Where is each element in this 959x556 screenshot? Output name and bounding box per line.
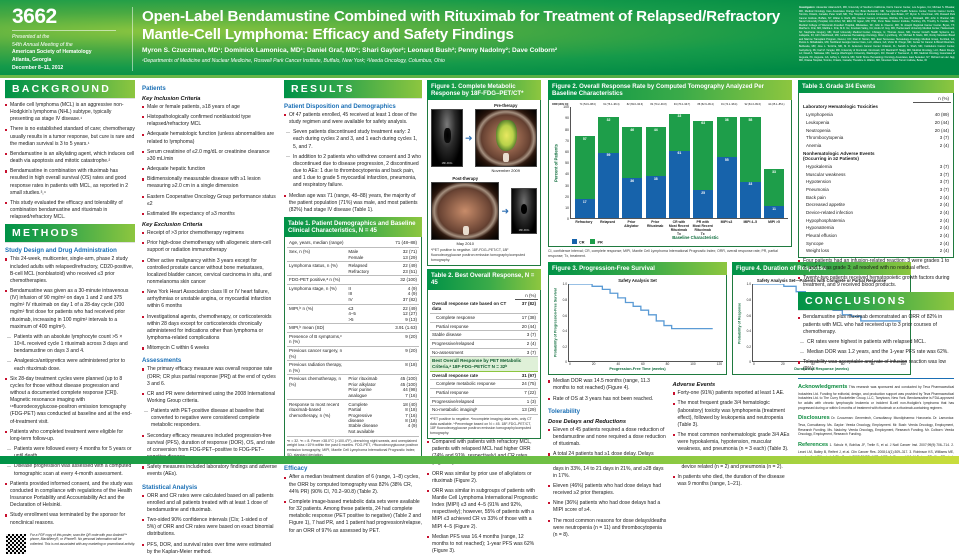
figure2-bar: 3259	[598, 117, 618, 218]
figure2-ci-value: 92 (64.3–99.6)	[741, 103, 765, 106]
figure2-bar-segment-pr: 44	[646, 127, 666, 176]
table1-row-category	[346, 239, 386, 247]
section-header-methods: METHODS	[5, 224, 135, 242]
table-row: Hypokalemia3 (7)	[801, 163, 951, 171]
table-row: Muscular weakness3 (7)	[801, 170, 951, 178]
column-patients: Patients Key Inclusion Criteria Male or …	[139, 80, 280, 458]
table3-group-header: Nonhematologic Adverse Events (Occurring…	[801, 149, 951, 162]
table3-row-value: 3 (7)	[913, 163, 951, 171]
pre-therapy-row: 18F-FDG ➜ Pre-therapy November 2009	[431, 103, 537, 173]
figure2-y-tick: 100	[563, 105, 569, 109]
table1-row-label: Response to most recent rituximab-based …	[287, 400, 346, 436]
table3-row-value: 2 (4)	[913, 201, 951, 209]
pet-whole-body-image-post: 18F-FDG	[511, 188, 537, 234]
table1-row-value: 22 (49)23 (51)	[386, 262, 419, 276]
conclusion-item: Median DOR was 1.2 years, and the 1-year…	[798, 349, 954, 356]
figure2-plot: 571732594636443833616325365558333311	[570, 107, 788, 219]
table1-row-label: Lymphoma status, n (%)	[287, 262, 346, 276]
exclusion-list: Receipt of >3 prior chemotherapy regimen…	[142, 230, 277, 352]
arrow-right-icon-post: ➜	[501, 207, 509, 216]
table2-sub-row-value: 13 (29)	[515, 406, 538, 415]
figure2-y-tick: 90	[565, 116, 569, 120]
figure2-y-tick: 30	[565, 184, 569, 188]
after-figs-list: Median DOR was 14.5 months (range, 11.3 …	[548, 378, 668, 402]
pre-therapy-caption: November 2009	[475, 168, 537, 173]
table1-row-category: Prior rituximabPrior alkylatorPrior puri…	[346, 375, 386, 400]
methods-item: Bendamustine was given as a 30-minute in…	[5, 288, 135, 331]
presented-line-2: American Society of Hematology	[12, 49, 130, 57]
table1-row-label: Sex, n (%)	[287, 247, 346, 261]
poster-footer-bar	[0, 456, 959, 464]
header-title-block: Open-Label Bendamustine Combined with Ri…	[142, 8, 792, 64]
km-x-tick: 120	[717, 362, 722, 366]
table-row: Complete metabolic response24 (75)	[430, 380, 538, 389]
table3-row-label: Hypotension	[801, 178, 913, 186]
table-row: Lymphoma stage, n (%)IIIIIIV4 (9)4 (9)37…	[287, 284, 419, 304]
table-row: Weight loss2 (4)	[801, 247, 951, 255]
figure3-x-ticks: 020406080100120	[568, 362, 723, 366]
table1-row-category: IIIIIIV	[346, 284, 386, 304]
exclusion-item: Other active malignancy within 3 years e…	[142, 258, 277, 287]
figure2-bar: 3311	[764, 169, 784, 218]
table3-row-value: 2 (4)	[913, 224, 951, 232]
figure1-box: 18F-FDG ➜ Pre-therapy November 2009	[427, 100, 541, 266]
dose-list: Eleven of 45 patients required a dose re…	[548, 427, 668, 539]
table-row: Response to most recent rituximab-based …	[287, 400, 419, 436]
figure2-ci-value: 82 (69.6–90.6)	[623, 103, 647, 106]
figure2-bar-segment-cr: 36	[622, 178, 642, 218]
figure2-legend-item: CR	[572, 239, 584, 245]
km-x-tick: 0	[569, 362, 571, 366]
km-y-tick: 0.6	[563, 314, 567, 318]
table3-row-label: Pleural effusion	[801, 232, 913, 240]
km-x-tick: 40	[616, 362, 620, 366]
figure2-bar-segment-cr: 25	[693, 190, 713, 218]
table2-sub-row-value: 1 (3)	[515, 397, 538, 406]
exclusion-heading: Key Exclusion Criteria	[142, 222, 277, 228]
table1-row-value: 18 (40)8 (18)7 (16)8 (18)4 (9)	[386, 400, 419, 436]
inclusion-item: Estimated life expectancy of ≥3 months	[142, 211, 277, 218]
table2-row-value: 3 (7)	[515, 348, 538, 357]
figure2-y-tick: 70	[565, 139, 569, 143]
efficacy-item: After a median treatment duration of 6 (…	[284, 474, 422, 495]
presented-line-1: 54th Annual Meeting of the	[12, 42, 130, 50]
figure3-subtitle: Safety Analysis Set	[552, 278, 723, 283]
assessment-item: The primary efficacy measure was overall…	[142, 366, 277, 387]
section-header-results: RESULTS	[284, 80, 422, 98]
table1-row-category	[346, 332, 386, 346]
assessments-heading: Assessments	[142, 357, 277, 364]
figure2-bar: 4438	[646, 127, 666, 218]
table3-col-header: n (%)	[913, 95, 951, 103]
post-therapy-row: Post-therapy May 2010 ➜ 18F-FDG	[431, 176, 537, 246]
table3-row-value: 2 (4)	[913, 247, 951, 255]
arrow-right-icon-pre: ➜	[465, 134, 473, 143]
disposition-item: Seven patients discontinued study treatm…	[284, 129, 422, 150]
section-header-background: BACKGROUND	[5, 80, 135, 98]
table1-row-value: 3.91 (1.63)	[386, 324, 419, 333]
table-row: Stable disease3 (7)	[430, 331, 538, 340]
efficacy-heading: Efficacy	[284, 465, 422, 472]
figure3-y-axis-label: Probability of Progression-Free Survival	[552, 284, 559, 362]
table3-row-label: Hypophosphatemia	[801, 217, 913, 225]
table1-row-label: FDG-PET positive,ᵃ n (%)	[287, 276, 346, 285]
km-y-tick: 0.8	[563, 298, 567, 302]
qr-caption: For a PDF copy of this poster, scan the …	[30, 533, 135, 546]
tolerability-heading: Tolerability	[548, 408, 668, 415]
table2-sub-row-label: No-metabolic imagingᵇ	[430, 406, 515, 415]
km-y-tick: 0.6	[747, 314, 751, 318]
qr-code-icon	[5, 533, 27, 555]
table-row: MIPI,ᵇ mean (SD)3.91 (1.63)	[287, 324, 419, 333]
table1-row-category	[346, 347, 386, 361]
table-row: Leukopenia20 (44)	[801, 119, 951, 127]
inclusion-list: Male or female patients, ≥18 years of ag…	[142, 104, 277, 218]
header-left-block: 3662 Presented at the 54th Annual Meetin…	[12, 6, 130, 73]
background-item: Bendamustine is an alkylating agent, whi…	[5, 151, 135, 165]
table2-row-label: Overall response rate based on CT data	[430, 300, 515, 314]
table1-row-label: Previous chemotherapy, n (%)	[287, 375, 346, 400]
km-x-tick: 20	[592, 362, 596, 366]
table1-wrapper: Age, years, median (range)71 (48–88)Sex,…	[284, 237, 422, 460]
table2-sub-row-value: 31 (97)	[515, 371, 538, 380]
methods-list: This 24-week, multicenter, single-arm, p…	[5, 256, 135, 526]
after-fig-item: Rate of OS at 3 years has not been reach…	[548, 396, 668, 403]
inclusion-item: Adequate hepatic function	[142, 166, 277, 173]
table1-row-label: Presence of B symptoms,ᶜ n (%)	[287, 332, 346, 346]
table-row: Back pain2 (4)	[801, 193, 951, 201]
qr-block: For a PDF copy of this poster, scan the …	[5, 533, 135, 555]
table1-footnotes: ᵃn = 32. ᵇn = 8. Fever >38.0°C (>100.4°F…	[287, 439, 419, 458]
table-row: Decreased appetite2 (4)	[801, 201, 951, 209]
table2-note-item: Median PFS was 16.4 months (range, 12 mo…	[427, 534, 541, 555]
disclosures-block: Disclosures Dr. Czuczman: Genentech, Con…	[798, 415, 954, 437]
table1-row-category: ≤34–5>5	[346, 304, 386, 324]
km-y-tick: 1.0	[563, 282, 567, 286]
poster-title: Open-Label Bendamustine Combined with Ri…	[142, 8, 792, 43]
figure2-bar: 3655	[717, 117, 737, 218]
figure2-ci-value: 88 (52.9–99.4)	[694, 103, 718, 106]
background-item: Mantle cell lymphoma (MCL) is an aggress…	[5, 102, 135, 123]
spine-shape-post	[463, 226, 469, 235]
table1-row-label: Lymphoma stage, n (%)	[287, 284, 346, 304]
table-row: Overall response rate31 (97)	[430, 371, 538, 380]
table1-row-value: 9 (20)	[386, 332, 419, 346]
figure2-bar: 3361	[669, 114, 689, 218]
table1-row-label: MIPI,ᵇ mean (SD)	[287, 324, 346, 333]
table2-wrapper: n (%) Overall response rate based on CT …	[427, 290, 541, 439]
disclosures-heading: Disclosures	[798, 415, 830, 421]
table3-row-label: Muscular weakness	[801, 170, 913, 178]
exclusion-item: Prior high-dose chemotherapy with alloge…	[142, 240, 277, 254]
table1-row-value: 8 (18)	[386, 361, 419, 375]
presented-line-4: December 8–11, 2012	[12, 65, 130, 73]
km-x-tick: 80	[666, 362, 670, 366]
methods-item: Six 28-day treatment cycles were planned…	[5, 376, 135, 426]
figure2-title: Figure 2. Overall Response Rate by Compu…	[548, 80, 792, 100]
figure2-chart-area: Percent of Patients 01020304050607080901…	[552, 107, 788, 219]
table-row: No-assessment3 (7)	[430, 348, 538, 357]
after-fig-item: Median DOR was 14.5 months (range, 11.3 …	[548, 378, 668, 392]
inclusion-heading: Key Inclusion Criteria	[142, 96, 277, 102]
table-row: Presence of B symptoms,ᶜ n (%)9 (20)	[287, 332, 419, 346]
assessment-item: Safety measures included laboratory find…	[142, 464, 277, 478]
figure3-plot-area: Probability of Progression-Free Survival…	[552, 284, 723, 362]
investigators-block: Investigators: Alexander Adamovitch, MD,…	[799, 6, 955, 63]
figure2-bar: 4636	[622, 127, 642, 218]
efficacy-list: After a median treatment duration of 6 (…	[284, 474, 422, 534]
table3-row-value: 2 (4)	[913, 193, 951, 201]
figure2-bar-segment-pr: 63	[693, 121, 713, 191]
statistic-item: ORR and CR rates were calculated based o…	[142, 493, 277, 514]
inclusion-item: Bidimensionally measurable disease with …	[142, 176, 277, 190]
figure4-y-ticks: 00.20.40.60.81.0	[743, 284, 752, 362]
figure2-bar: 5717	[575, 136, 595, 218]
figure2-ci-value: 91 (76.1–98.4)	[600, 103, 624, 106]
table3-row-label: Leukopenia	[801, 119, 913, 127]
patients-heading: Patients	[142, 85, 277, 92]
km-y-tick: 0.4	[747, 329, 751, 333]
table1-row-value: 71 (48–88)	[386, 239, 419, 247]
table2-row-value: 20 (44)	[515, 322, 538, 331]
exclusion-item: Investigational agents, chemotherapy, or…	[142, 314, 277, 343]
km-y-tick: 0.8	[747, 298, 751, 302]
figure3-box: Safety Analysis Set Probability of Progr…	[548, 275, 727, 375]
table1-row-category: MaleFemale	[346, 247, 386, 261]
methods-item: Disease progression was assessed with a …	[5, 463, 135, 477]
table-row: Syncope2 (4)	[801, 240, 951, 248]
table1-row-label: Previous radiation therapy, n (%)	[287, 361, 346, 375]
table1-row-value: 22 (49)12 (27)9 (13)	[386, 304, 419, 324]
table1-row-label: Previous cancer surgery, n (%)	[287, 347, 346, 361]
disposition-item: In addition to 2 patients who withdrew c…	[284, 154, 422, 190]
table-row: Partial response20 (44)	[430, 322, 538, 331]
table3-row-value: 40 (89)	[913, 111, 951, 119]
figure2-bar-segment-pr: 57	[575, 136, 595, 199]
table3-row-value: 3 (7)	[913, 134, 951, 142]
table3-row-label: Anemia	[801, 142, 913, 150]
table-row: Progressive/relapsed2 (4)	[430, 339, 538, 348]
table1-row-category	[346, 324, 386, 333]
table1-row-value: 4 (9)4 (9)37 (82)	[386, 284, 419, 304]
table2-note-item: ORR was similar by prior use of alkylato…	[427, 471, 541, 485]
background-item: This study evaluated the efficacy and to…	[5, 200, 135, 221]
table-row: No-metabolic imagingᵇ13 (29)	[430, 406, 538, 415]
footer-divider	[798, 378, 954, 379]
methods-subhead: Study Design and Drug Administration	[5, 247, 135, 254]
background-item: There is no established standard of care…	[5, 126, 135, 147]
methods-item: Study enrollment was terminated by the s…	[5, 512, 135, 526]
figure3-y-ticks: 00.20.40.60.81.0	[559, 284, 568, 362]
figure4-y-axis-label: Probability of Response	[736, 284, 743, 362]
table-row: Neutropenia20 (44)	[801, 126, 951, 134]
column-results: RESULTS Patient Disposition and Demograp…	[281, 80, 425, 458]
table3-row-value: 20 (44)	[913, 119, 951, 127]
table3-wrapper: n (%) Laboratory Hematologic ToxicitiesL…	[798, 93, 954, 258]
adverse-events-heading: Adverse Events	[673, 382, 793, 388]
statistic-item: PFS, DOR, and survival rates over time w…	[142, 542, 277, 556]
figure2-y-axis-label: Percent of Patients	[552, 107, 560, 219]
pet-whole-body-image-pre: 18F-FDG	[431, 109, 463, 167]
dose-item: The most common reasons for dose delays/…	[548, 518, 668, 539]
author-list: Myron S. Czuczman, MD¹; Dominick Lamonic…	[142, 47, 792, 56]
figure2-legend: CRPR	[572, 239, 603, 245]
column-figures: Figure 2. Overall Response Rate by Compu…	[545, 80, 795, 458]
disposition-item: Of 47 patients enrolled, 45 received at …	[284, 112, 422, 126]
presented-line-3: Atlanta, Georgia	[12, 57, 130, 65]
figure2-y-tick: 20	[565, 195, 569, 199]
km-y-tick: 0.2	[563, 345, 567, 349]
poster-header: 3662 Presented at the 54th Annual Meetin…	[0, 0, 959, 78]
table3-row-value: 2 (4)	[913, 217, 951, 225]
table1-row-value: 32 (100)	[386, 276, 419, 285]
table3-note-item: Four patients had an infusion-related re…	[798, 258, 954, 272]
table3-note-item: Twenty-two patients received hematopoiet…	[798, 275, 954, 289]
table-row: Previous chemotherapy, n (%)Prior rituxi…	[287, 375, 419, 400]
table3-row-value: 20 (44)	[913, 126, 951, 134]
references-heading: References	[798, 442, 828, 448]
table-row: Age, years, median (range)71 (48–88)	[287, 239, 419, 247]
table-row: Previous radiation therapy, n (%)8 (18)	[287, 361, 419, 375]
table1-title: Table 1. Patient Demographics and Baseli…	[284, 217, 422, 237]
figure2-bar-segment-pr: 58	[740, 117, 760, 181]
pre-therapy-label: Pre-therapy	[475, 103, 537, 108]
table3-row-label: Hyponatremia	[801, 224, 913, 232]
km-y-tick: 0	[565, 360, 567, 364]
pet-tag-post: 18F-FDG	[512, 229, 536, 232]
table2-sub-row-value: 7 (22)	[515, 389, 538, 398]
table1-row-category	[346, 276, 386, 285]
figure2-bar-segment-pr: 33	[669, 114, 689, 151]
adverse-event-item: Forty-one (91%) patients reported at lea…	[673, 390, 793, 397]
figure2-bar-segment-cr: 38	[646, 176, 666, 218]
figure2-bar: 6325	[693, 121, 713, 219]
methods-item: Analgesics/antipyretics were administere…	[5, 358, 135, 372]
ct-image-post	[431, 182, 499, 240]
table3-row-label: Device-related infection	[801, 209, 913, 217]
figure2-bar-segment-cr: 61	[669, 151, 689, 219]
figure1-footnote: *PET positive to negative. 18F-FDG–PET/C…	[431, 248, 537, 262]
post-therapy-label: Post-therapy	[431, 176, 499, 181]
figure2-y-ticks: 0102030405060708090100	[560, 107, 570, 219]
figure2-bar-segment-cr: 11	[764, 206, 784, 218]
figure2-bar-segment-pr: 46	[622, 127, 642, 178]
table-row: Pneumonia3 (7)	[801, 186, 951, 194]
table-row: MIPI,ᵇ n (%)≤34–5>522 (49)12 (27)9 (13)	[287, 304, 419, 324]
table2: n (%) Overall response rate based on CT …	[430, 292, 538, 415]
table1-row-category: CompletePartialProgressive diseaseStable…	[346, 400, 386, 436]
exclusion-item: Mitomycin C within 6 weeks	[142, 345, 277, 352]
table3: n (%) Laboratory Hematologic ToxicitiesL…	[801, 95, 951, 255]
table2-row-value: 3 (7)	[515, 331, 538, 340]
exclusion-item: Receipt of >3 prior chemotherapy regimen…	[142, 230, 277, 237]
table3-row-value: 2 (4)	[913, 232, 951, 240]
km-x-tick: 20	[781, 362, 785, 366]
efficacy-item: Complete image-based metabolic data sets…	[284, 499, 422, 535]
poster-root: 3662 Presented at the 54th Annual Meetin…	[0, 0, 959, 464]
table2-note-item: ORR was similar in subgroups of patients…	[427, 488, 541, 531]
table-row: Hypophosphatemia2 (4)	[801, 217, 951, 225]
figure3-curve	[568, 284, 723, 362]
figure2-bar-segment-pr: 33	[764, 169, 784, 206]
table2-title: Table 2. Best Overall Response, N = 45	[427, 269, 541, 289]
table3-row-label: Pneumonia	[801, 186, 913, 194]
table2-row-label: Progressive/relapsed	[430, 339, 515, 348]
figure2-ci-value: 91 (74.1–98.4)	[717, 103, 741, 106]
methods-item: Patients provided informed consent, and …	[5, 481, 135, 510]
column-table3-conclusions: Table 3. Grade 3/4 Events n (%) Laborato…	[795, 80, 957, 458]
table3-row-label: Hypokalemia	[801, 163, 913, 171]
table3-row-label: Lymphopenia	[801, 111, 913, 119]
figure2-ci-value: 74 (54.9–88.0)	[576, 103, 600, 106]
table3-row-label: Back pain	[801, 193, 913, 201]
dose-heading: Dose Delays and Reductions	[548, 419, 668, 425]
km-y-tick: 0.2	[747, 345, 751, 349]
table1-row-value: 32 (71)13 (29)	[386, 247, 419, 261]
table1-row-value: 45 (100)45 (100)44 (98)7 (16)	[386, 375, 419, 400]
table2-row-label: No-assessment	[430, 348, 515, 357]
header-divider	[132, 7, 133, 71]
table2-row-value: 2 (4)	[515, 339, 538, 348]
figure2-bar-segment-cr: 17	[575, 199, 595, 218]
table-row: FDG-PET positive,ᵃ n (%)32 (100)	[287, 276, 419, 285]
post-therapy-caption: May 2010	[431, 241, 499, 246]
column-background-methods: BACKGROUND Mantle cell lymphoma (MCL) is…	[2, 80, 138, 458]
km-y-tick: 0.4	[563, 329, 567, 333]
column-figure1-table2: Figure 1. Complete Metabolic Response by…	[424, 80, 544, 458]
figure2-bar-segment-cr: 59	[598, 153, 618, 218]
affiliations: ¹Departments of Medicine and Nuclear Med…	[142, 58, 792, 65]
spine-shape-pre	[503, 153, 508, 162]
pet-tag-pre: 18F-FDG	[432, 162, 462, 165]
inclusion-item: Eastern Cooperative Oncology Group perfo…	[142, 194, 277, 208]
km-x-tick: 60	[641, 362, 645, 366]
poster-number: 3662	[12, 6, 130, 27]
table-row: Progressive/relapsed1 (3)	[430, 397, 538, 406]
disposition-heading: Patient Disposition and Demographics	[284, 103, 422, 110]
figure2-y-tick: 60	[565, 150, 569, 154]
figure2-bar-segment-pr: 32	[598, 117, 618, 153]
background-list: Mantle cell lymphoma (MCL) is an aggress…	[5, 102, 135, 221]
background-item: Bendamustine in combination with rituxim…	[5, 168, 135, 197]
table3-title: Table 3. Grade 3/4 Events	[798, 80, 954, 93]
statistics-heading: Statistical Analysis	[142, 484, 277, 491]
figure2-ci-value: 82 (70.2–90.8)	[647, 103, 671, 106]
table2-row-label: Stable disease	[430, 331, 515, 340]
figure2-y-tick: 40	[565, 172, 569, 176]
table-row: Previous cancer surgery, n (%)9 (20)	[287, 347, 419, 361]
figure2-x-category: Refractory	[574, 220, 594, 236]
table-row: Partial response7 (22)	[430, 389, 538, 398]
acknowledgments-heading: Acknowledgments	[798, 384, 847, 390]
figure2-bar-segment-cr: 33	[740, 182, 760, 219]
figure2-footnote: CI, confidence interval; CR, complete re…	[548, 249, 792, 258]
table3-row-value: 2 (4)	[913, 209, 951, 217]
figure2-ci-value: 44 (25.1–85.1)	[765, 103, 789, 106]
presented-line-0: Presented at the	[12, 34, 130, 42]
table1-row-label: MIPI,ᵇ n (%)	[287, 304, 346, 324]
conclusion-item: Bendamustine plus rituximab demonstrated…	[798, 314, 954, 335]
table2-sub-row-label: Overall response rate	[430, 371, 515, 380]
inclusion-item: Serum creatinine of ≤2.0 mg/dL or creati…	[142, 149, 277, 163]
table-row: Hypotension3 (7)	[801, 178, 951, 186]
table3-row-value: 3 (7)	[913, 170, 951, 178]
table1-row-category: RelapsedRefractory	[346, 262, 386, 276]
inclusion-item: Male or female patients, ≥18 years of ag…	[142, 104, 277, 111]
conclusion-item: Tolerability was acceptable and rate of …	[798, 359, 954, 373]
conclusion-item: CR rates were highest in patients with r…	[798, 339, 954, 346]
km-y-tick: 1.0	[747, 282, 751, 286]
